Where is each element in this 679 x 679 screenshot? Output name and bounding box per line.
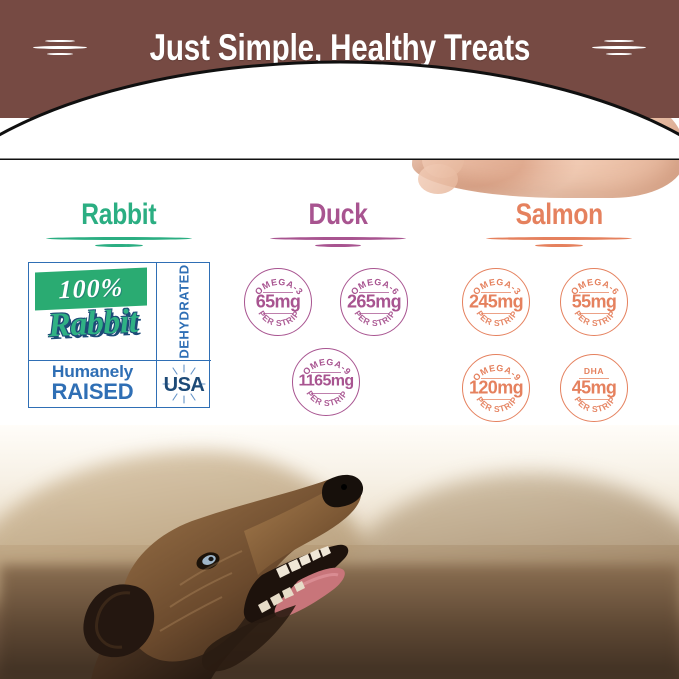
duck-title: Duck — [308, 200, 367, 230]
dog-photo: Duck & Salmon Jerky With Added Flax Seed… — [0, 425, 679, 679]
column-rabbit: Rabbit 100% Rabbit DEHYDRATED Humanely R… — [14, 200, 224, 408]
rabbit-script-label: Rabbit — [32, 302, 154, 346]
flourish-left-icon — [32, 35, 88, 61]
header-banner: Just Simple, Healthy Treats — [0, 0, 679, 118]
badge-divider-bottom — [481, 313, 511, 314]
humanely-label: Humanely — [28, 363, 158, 381]
badge-divider-bottom — [481, 399, 511, 400]
salmon-title-rule — [484, 236, 634, 250]
rabbit-heading-group: Rabbit — [14, 200, 224, 250]
humanely-raised-block: Humanely RAISED — [29, 361, 157, 407]
page-title: Just Simple, Healthy Treats — [149, 27, 530, 69]
badge-value: 55mg — [561, 293, 627, 311]
rabbit-quality-badge: 100% Rabbit DEHYDRATED Humanely RAISED — [28, 262, 210, 408]
badge-value: 45mg — [561, 379, 627, 397]
rabbit-percent-label: 100% — [35, 272, 147, 307]
dehydrated-block: DEHYDRATED — [157, 263, 211, 361]
dog-illustration — [30, 435, 390, 679]
flourish-right-icon — [591, 35, 647, 61]
omega-badge-duck-omega-3: OMEGA-3PER STRIP65mg — [244, 268, 312, 336]
duck-badge-grid: OMEGA-3PER STRIP65mgOMEGA-6PER STRIP265m… — [240, 262, 436, 422]
rabbit-title-rule — [44, 236, 194, 250]
duck-title-rule — [268, 236, 408, 250]
dehydrated-label: DEHYDRATED — [177, 264, 192, 358]
badge-divider-bottom — [579, 313, 609, 314]
badge-value: 120mg — [463, 379, 529, 397]
badge-value: 65mg — [245, 293, 311, 311]
usa-block: USA — [157, 361, 211, 407]
svg-text:PER STRIP: PER STRIP — [304, 389, 349, 408]
omega-badge-duck-omega-6: OMEGA-6PER STRIP265mg — [340, 268, 408, 336]
badge-value: 1165mg — [293, 374, 359, 390]
salmon-badge-grid: OMEGA-3PER STRIP245mgOMEGA-6PER STRIP55m… — [448, 262, 670, 432]
product-infographic: Just Simple, Healthy Treats Rabbit — [0, 0, 679, 679]
raised-label: RAISED — [29, 381, 156, 403]
omega-badge-salmon-dha: PER STRIPDHA45mg — [560, 354, 628, 422]
column-salmon: Salmon OMEGA-3PER STRIP245mgOMEGA-6PER S… — [448, 200, 670, 432]
omega-badge-salmon-omega-3: OMEGA-3PER STRIP245mg — [462, 268, 530, 336]
column-duck: Duck OMEGA-3PER STRIP65mgOMEGA-6PER STRI… — [240, 200, 436, 422]
badge-label: DHA — [561, 366, 627, 376]
badge-value: 265mg — [341, 293, 407, 311]
header-content: Just Simple, Healthy Treats — [0, 0, 679, 96]
rabbit-badge-main: 100% Rabbit — [29, 263, 157, 361]
rabbit-title: Rabbit — [81, 200, 156, 230]
omega-badge-duck-omega-9: OMEGA-9PER STRIP1165mg — [292, 348, 360, 416]
badge-value: 245mg — [463, 293, 529, 311]
badge-divider-bottom — [263, 313, 293, 314]
usa-label: USA — [157, 374, 211, 397]
omega-badge-salmon-omega-9: OMEGA-9PER STRIP120mg — [462, 354, 530, 422]
omega-badge-salmon-omega-6: OMEGA-6PER STRIP55mg — [560, 268, 628, 336]
badge-divider-bottom — [311, 393, 341, 394]
badge-divider-bottom — [579, 399, 609, 400]
badge-divider-bottom — [359, 313, 389, 314]
